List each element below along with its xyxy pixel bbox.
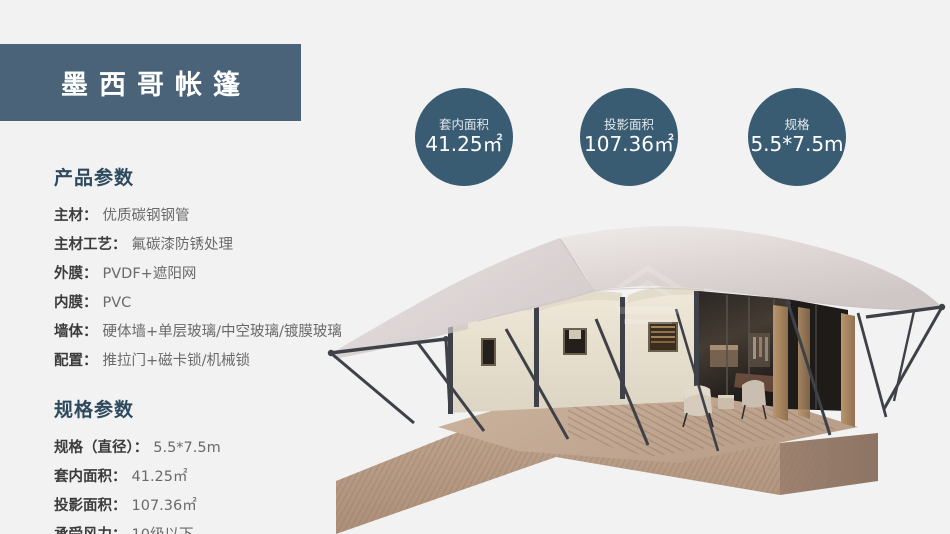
spec-value: 10级以下 (132, 521, 194, 534)
page-root: 墨西哥帐篷 产品参数 主材： 优质碳钢钢管 主材工艺： 氟碳漆防锈处理 外膜： … (0, 0, 950, 534)
spec-value: PVDF+遮阳网 (103, 260, 197, 289)
spec-value: 硬体墙+单层玻璃/中空玻璃/镀膜玻璃 (103, 318, 342, 347)
page-title: 墨西哥帐篷 (50, 63, 251, 102)
spec-value: 氟碳漆防锈处理 (132, 231, 234, 260)
spec-value: 5.5*7.5m (153, 434, 221, 463)
spec-label: 主材： (54, 202, 98, 231)
badge-label: 套内面积 (439, 119, 489, 132)
spec-label: 主材工艺： (54, 231, 127, 260)
spec-label: 外膜： (54, 260, 98, 289)
stat-badge-projected-area: 投影面积 107.36㎡ (580, 88, 678, 186)
spec-label: 规格（直径）： (54, 434, 148, 463)
spec-value: PVC (103, 289, 132, 318)
spec-value: 41.25㎡ (132, 463, 188, 492)
spec-value: 推拉门+磁卡锁/机械锁 (103, 347, 251, 376)
spec-value: 107.36㎡ (132, 492, 197, 521)
spec-label: 承受风力： (54, 521, 127, 534)
spec-label: 配置： (54, 347, 98, 376)
title-banner: 墨西哥帐篷 (0, 44, 301, 121)
badge-value: 107.36㎡ (584, 134, 674, 155)
badge-value: 41.25㎡ (425, 134, 502, 155)
badge-value: 5.5*7.5m (750, 134, 843, 155)
spec-label: 套内面积： (54, 463, 127, 492)
product-params-heading: 产品参数 (54, 163, 374, 190)
spec-label: 内膜： (54, 289, 98, 318)
tent-illustration (318, 195, 950, 534)
badge-label: 规格 (784, 119, 809, 132)
tent-render-svg (318, 195, 950, 534)
stat-badge-interior-area: 套内面积 41.25㎡ (415, 88, 513, 186)
stat-badge-dimensions: 规格 5.5*7.5m (748, 88, 846, 186)
spec-label: 墙体： (54, 318, 98, 347)
spec-value: 优质碳钢钢管 (103, 202, 190, 231)
spec-label: 投影面积： (54, 492, 127, 521)
badge-label: 投影面积 (604, 119, 654, 132)
